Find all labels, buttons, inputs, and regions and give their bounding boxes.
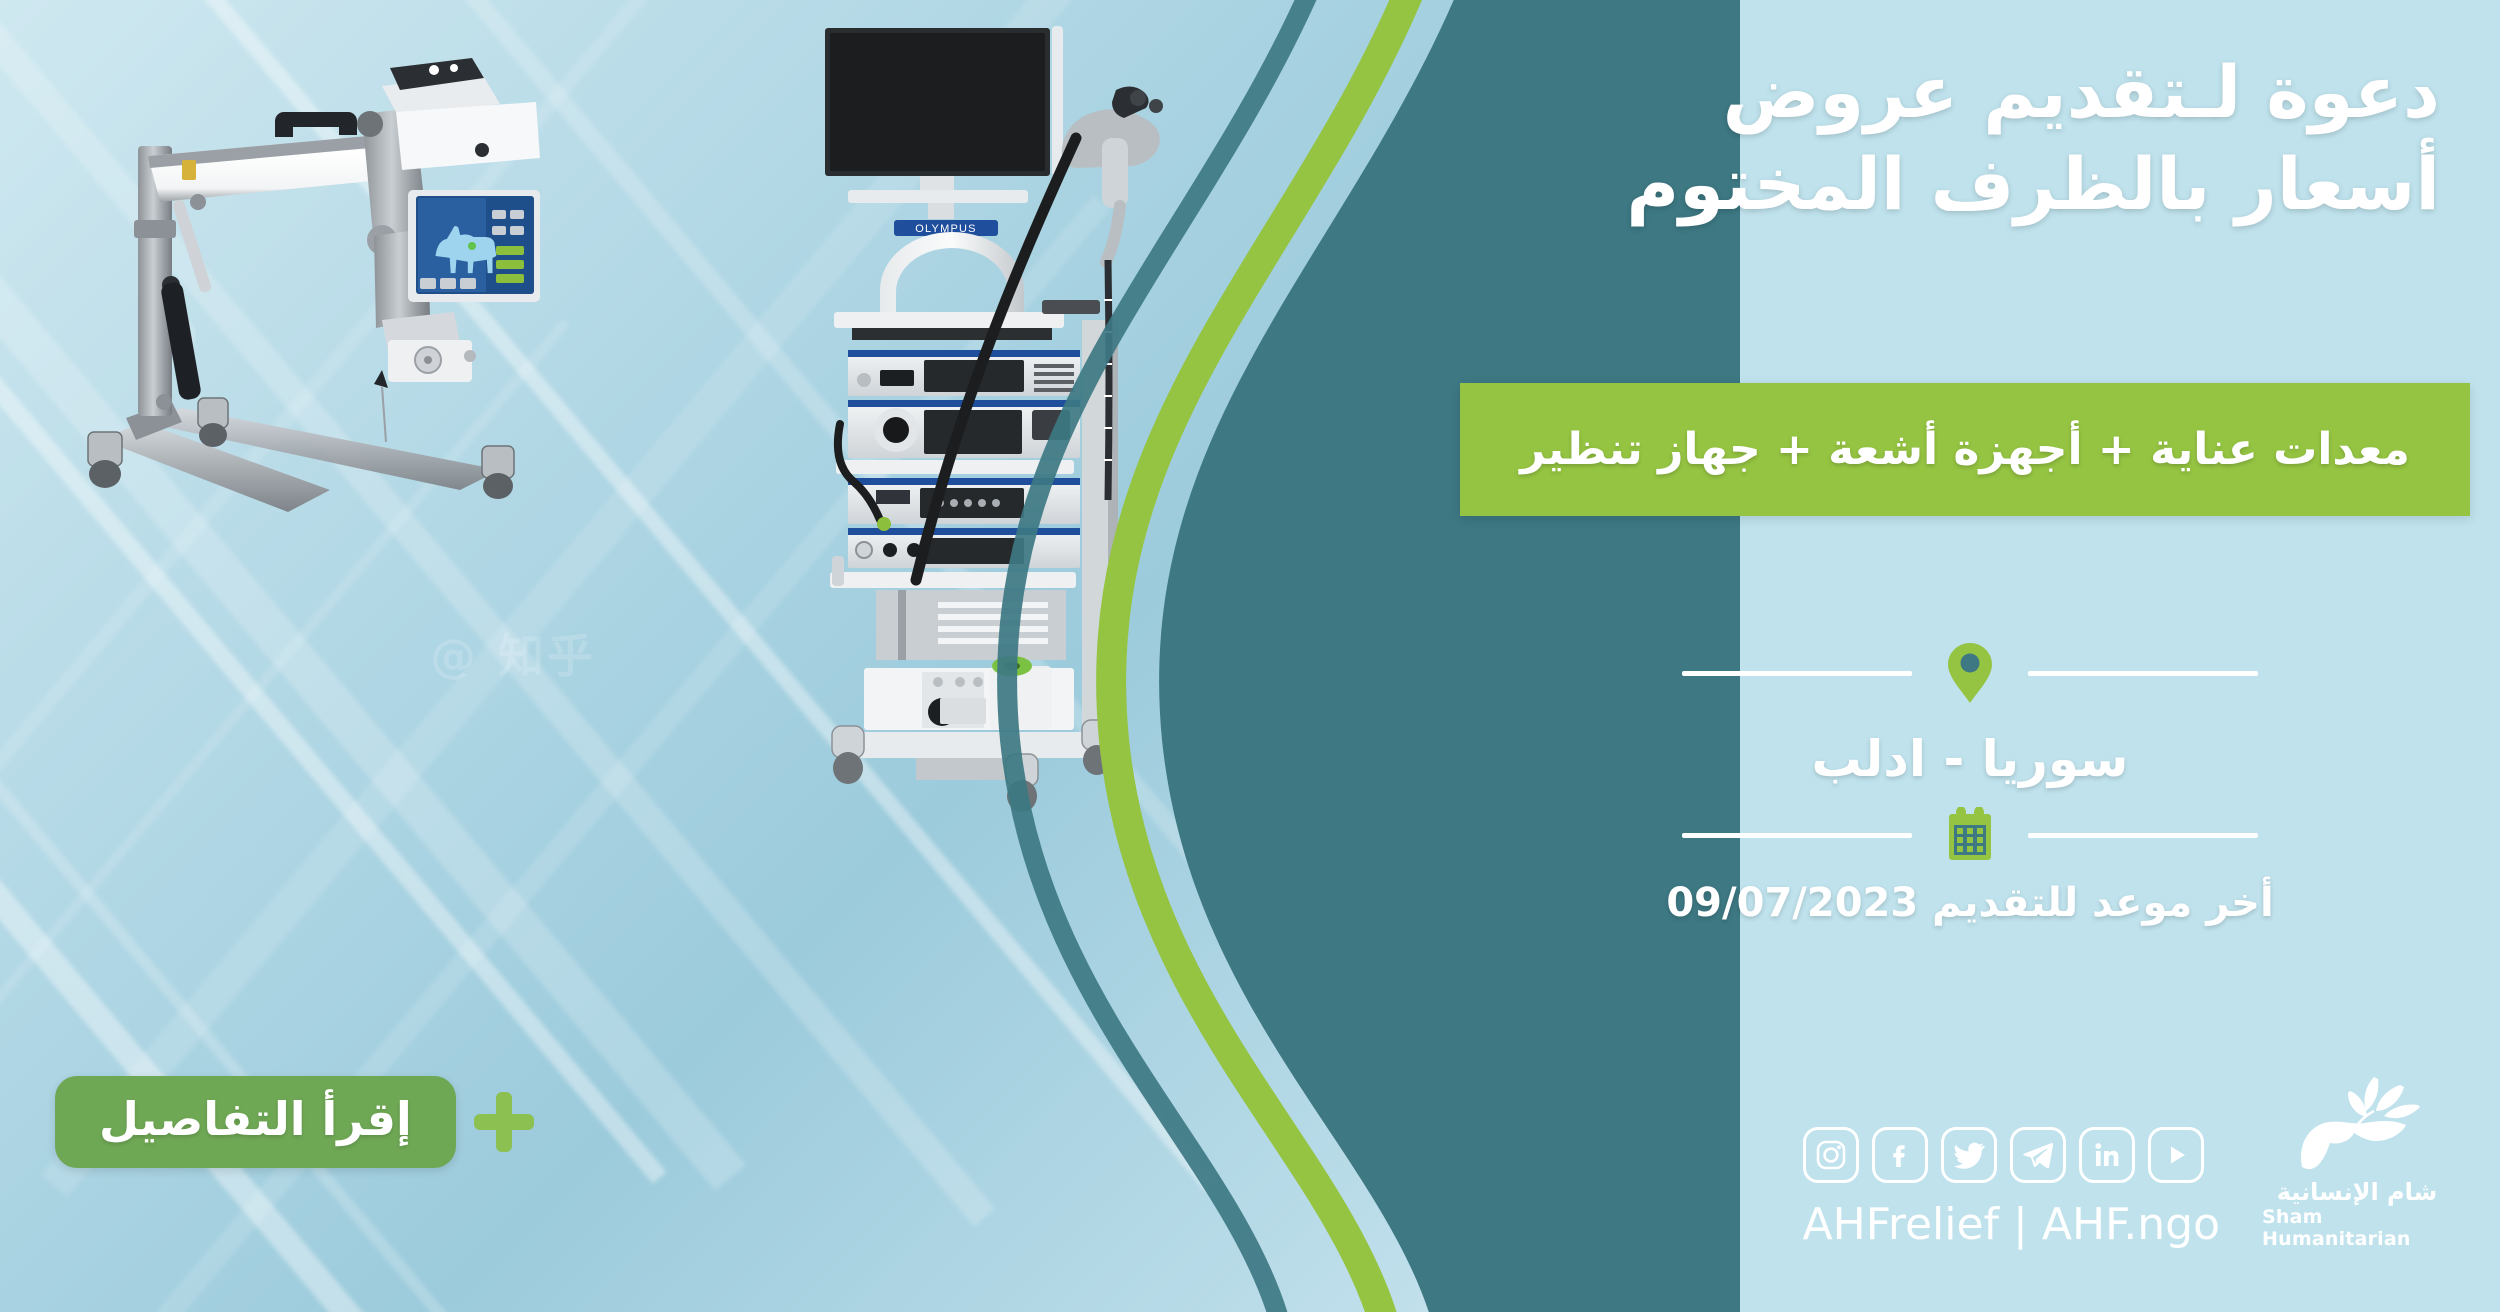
social-icons-row bbox=[1803, 1127, 2220, 1183]
read-details-label: إقرأ التفاصيل bbox=[99, 1092, 412, 1146]
page-title: دعوة لـتقديم عروض أسعار بالظرف المختوم bbox=[1490, 46, 2440, 230]
deadline-text: أخر موعد للتقديم 09/07/2023 bbox=[1440, 880, 2500, 926]
divider-line-right bbox=[2028, 833, 2258, 838]
linkedin-icon[interactable] bbox=[2079, 1127, 2135, 1183]
right-content-panel: دعوة لـتقديم عروض أسعار بالظرف المختوم م… bbox=[1440, 0, 2500, 1312]
headline-line-1: دعوة لـتقديم عروض bbox=[1490, 46, 2440, 138]
map-pin-icon bbox=[1938, 638, 2002, 708]
photo-watermark: @ 知乎 bbox=[430, 620, 596, 686]
facebook-icon[interactable] bbox=[1872, 1127, 1928, 1183]
deadline-divider-row bbox=[1440, 800, 2500, 870]
read-details-cta[interactable]: إقرأ التفاصيل bbox=[55, 1076, 534, 1168]
divider-line-left bbox=[1682, 833, 1912, 838]
telegram-icon[interactable] bbox=[2010, 1127, 2066, 1183]
brand-name-en: Sham Humanitarian bbox=[2262, 1206, 2452, 1250]
location-divider-row bbox=[1440, 638, 2500, 708]
equipment-banner: معدات عناية + أجهزة أشعة + جهاز تنظير bbox=[1460, 383, 2470, 516]
plus-icon[interactable] bbox=[474, 1092, 534, 1152]
poster-canvas: @ @ 知乎 bbox=[0, 0, 2500, 1312]
brand-name-ar: شام الإنسانية bbox=[2277, 1178, 2437, 1206]
divider-line-right bbox=[2028, 671, 2258, 676]
instagram-icon[interactable] bbox=[1803, 1127, 1859, 1183]
footer: AHFrelief | AHF.ngo شام الإنسانية Sham H… bbox=[1803, 1071, 2452, 1250]
read-details-button[interactable]: إقرأ التفاصيل bbox=[55, 1076, 456, 1168]
brand-logo: شام الإنسانية Sham Humanitarian bbox=[2262, 1071, 2452, 1250]
twitter-icon[interactable] bbox=[1941, 1127, 1997, 1183]
xray-machine-image bbox=[30, 50, 630, 530]
calendar-icon bbox=[1938, 800, 2002, 870]
divider-line-left bbox=[1682, 671, 1912, 676]
hand-leaf-logo-icon bbox=[2282, 1071, 2432, 1176]
youtube-icon[interactable] bbox=[2148, 1127, 2204, 1183]
social-block: AHFrelief | AHF.ngo bbox=[1803, 1127, 2220, 1250]
equipment-banner-text: معدات عناية + أجهزة أشعة + جهاز تنظير bbox=[1520, 424, 2410, 475]
social-handle: AHFrelief | AHF.ngo bbox=[1803, 1199, 2220, 1250]
headline-line-2: أسعار بالظرف المختوم bbox=[1490, 138, 2440, 230]
location-text: سوريا - ادلب bbox=[1440, 730, 2500, 788]
